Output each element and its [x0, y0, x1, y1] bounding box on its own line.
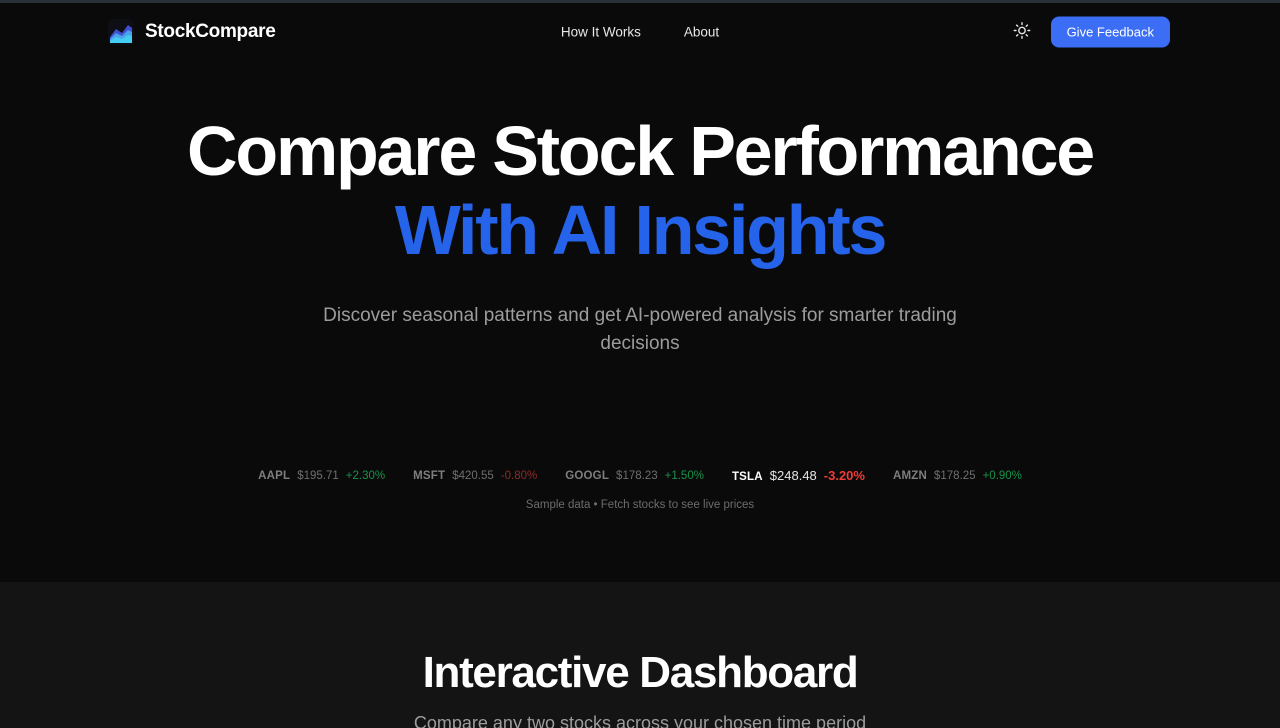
ticker-symbol: AMZN [893, 470, 927, 482]
main-nav: How It Works About [561, 25, 719, 40]
theme-toggle-button[interactable] [1011, 21, 1033, 43]
ticker-symbol: GOOGL [565, 470, 609, 482]
dashboard-title: Interactive Dashboard [0, 647, 1280, 699]
site-header: StockCompare How It Works About Give Fee… [0, 3, 1280, 61]
browser-chrome-strip [0, 0, 1280, 3]
ticker-note: Sample data • Fetch stocks to see live p… [0, 499, 1280, 511]
give-feedback-button[interactable]: Give Feedback [1051, 17, 1170, 48]
page-title: Compare Stock Performance With AI Insigh… [0, 112, 1280, 270]
ticker-price: $248.48 [770, 468, 817, 483]
brand[interactable]: StockCompare [108, 19, 276, 45]
ticker-price: $195.71 [297, 470, 339, 482]
page-root: StockCompare How It Works About Give Fee… [0, 0, 1280, 728]
ticker-item-googl[interactable]: GOOGL$178.23+1.50% [565, 470, 704, 482]
hero-section: StockCompare How It Works About Give Fee… [0, 0, 1280, 582]
area-chart-icon [108, 19, 134, 45]
ticker-price: $178.23 [616, 470, 658, 482]
ticker-price: $178.25 [934, 470, 976, 482]
ticker-item-msft[interactable]: MSFT$420.55-0.80% [413, 470, 537, 482]
ticker-symbol: TSLA [732, 471, 763, 483]
ticker-price: $420.55 [452, 470, 494, 482]
ticker-symbol: MSFT [413, 470, 445, 482]
dashboard-section: Interactive Dashboard Compare any two st… [0, 582, 1280, 728]
ticker-row: AAPL$195.71+2.30%MSFT$420.55-0.80%GOOGL$… [0, 468, 1280, 483]
ticker-symbol: AAPL [258, 470, 290, 482]
sun-icon [1013, 22, 1031, 43]
ticker-change: -0.80% [501, 470, 537, 482]
nav-item-how-it-works[interactable]: How It Works [561, 25, 641, 40]
ticker-change: -3.20% [824, 468, 865, 483]
ticker-change: +2.30% [346, 470, 385, 482]
hero-title-line2: Performance [689, 112, 1093, 190]
ticker-item-aapl[interactable]: AAPL$195.71+2.30% [258, 470, 385, 482]
dashboard-subtitle: Compare any two stocks across your chose… [0, 713, 1280, 728]
ticker-item-tsla[interactable]: TSLA$248.48-3.20% [732, 468, 865, 483]
hero-title-line1: Compare Stock [187, 112, 672, 190]
hero-content: Compare Stock Performance With AI Insigh… [0, 112, 1280, 358]
brand-name: StockCompare [145, 21, 276, 43]
nav-item-about[interactable]: About [684, 25, 719, 40]
ticker-change: +1.50% [665, 470, 704, 482]
hero-title-accent: With AI Insights [0, 191, 1280, 270]
ticker-change: +0.90% [983, 470, 1022, 482]
ticker-item-amzn[interactable]: AMZN$178.25+0.90% [893, 470, 1022, 482]
header-actions: Give Feedback [1011, 17, 1170, 48]
hero-subtitle: Discover seasonal patterns and get AI-po… [300, 302, 980, 358]
